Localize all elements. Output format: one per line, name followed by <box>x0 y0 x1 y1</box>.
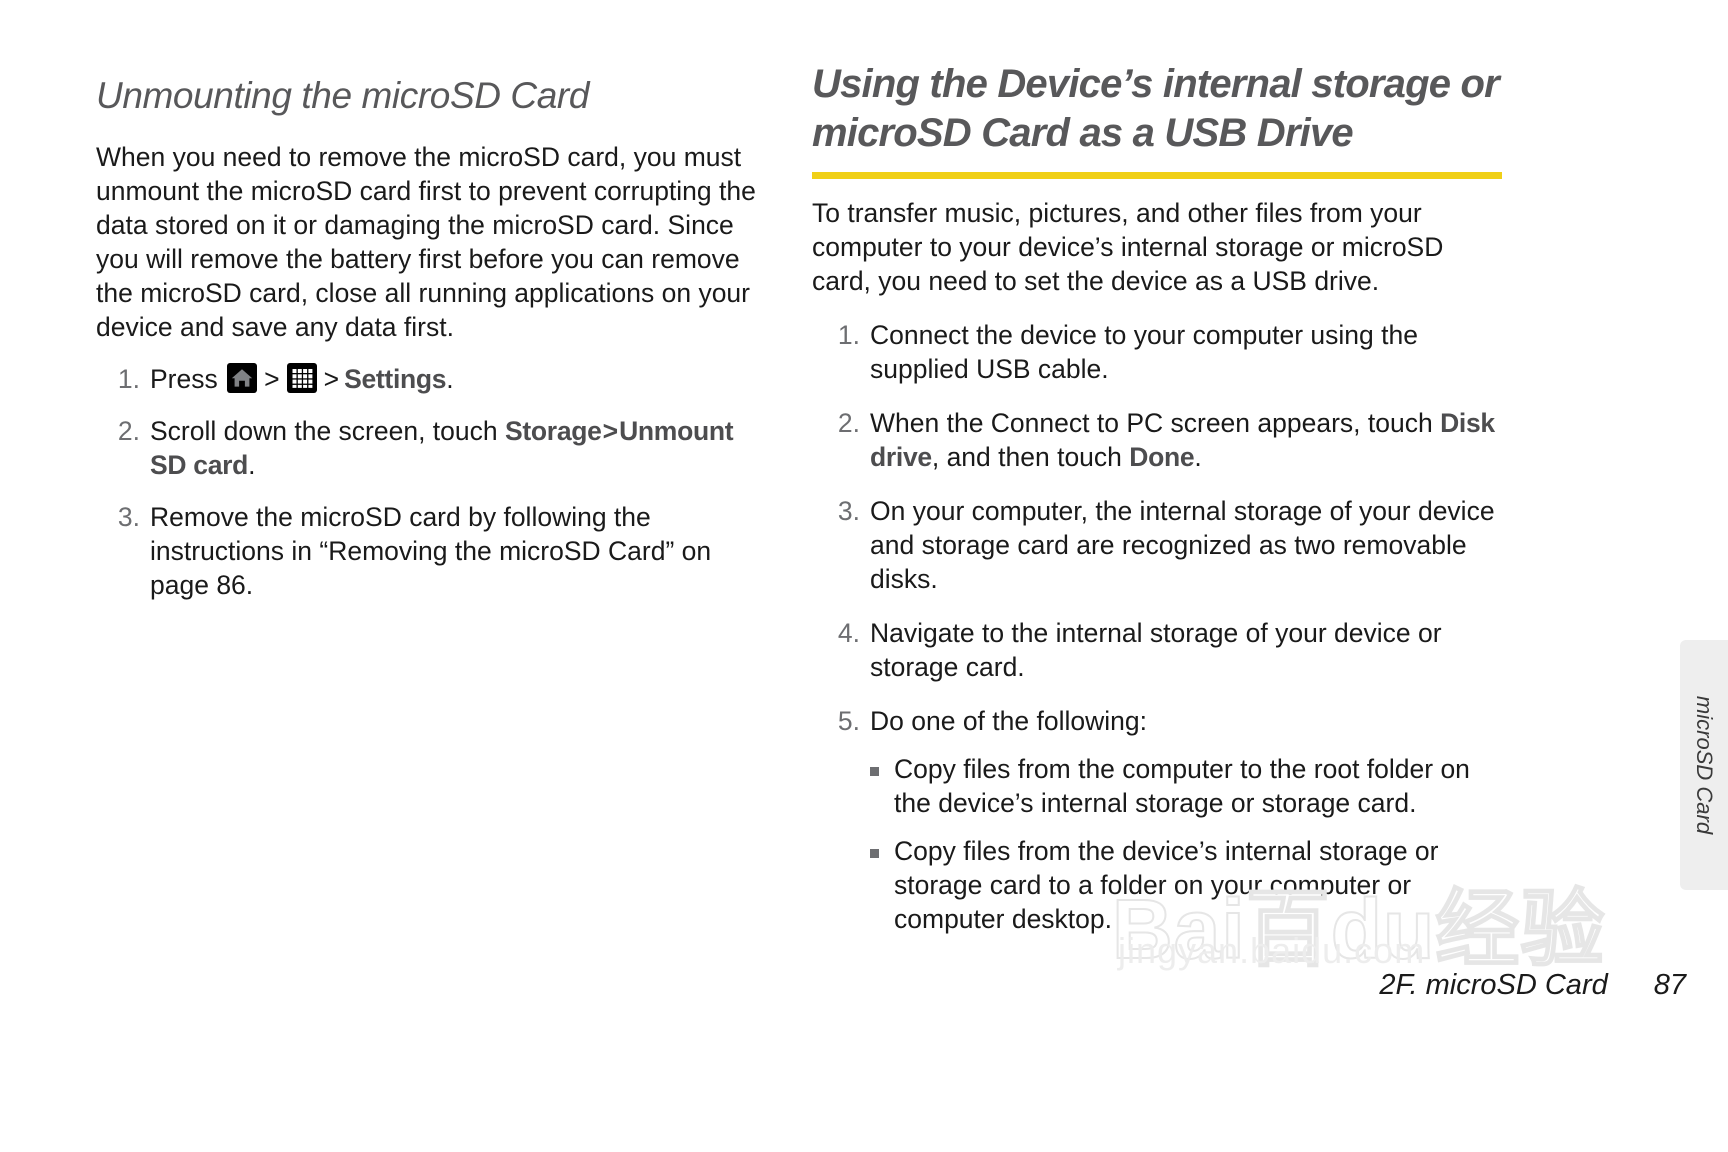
step-text: Remove the microSD card by following the… <box>150 502 711 600</box>
step-text-prefix: Press <box>150 364 218 394</box>
step-text-suffix: . <box>1194 442 1201 472</box>
left-column: Unmounting the microSD Card When you nee… <box>96 60 776 620</box>
list-item: Copy files from the device’s internal st… <box>870 834 1502 936</box>
list-item: 3.Remove the microSD card by following t… <box>96 500 776 602</box>
right-steps-list: 1.Connect the device to your computer us… <box>812 318 1502 936</box>
square-bullet-icon <box>870 767 879 776</box>
chevron-separator: > <box>319 364 344 394</box>
list-item: 1.Press > <box>96 362 776 396</box>
step-text-prefix: Scroll down the screen, touch <box>150 416 498 446</box>
step-number: 2. <box>106 414 140 448</box>
accent-rule <box>812 172 1502 179</box>
list-item: Copy files from the computer to the root… <box>870 752 1502 820</box>
step-text: Navigate to the internal storage of your… <box>870 618 1442 682</box>
list-item: 4.Navigate to the internal storage of yo… <box>812 616 1502 684</box>
side-tab-label: microSD Card <box>1691 696 1717 834</box>
chevron-separator: > <box>259 364 284 394</box>
step-number: 1. <box>106 362 140 396</box>
step-number: 5. <box>826 704 860 738</box>
square-bullet-icon <box>870 849 879 858</box>
list-item: 3.On your computer, the internal storage… <box>812 494 1502 596</box>
right-section-heading: Using the Device’s internal storage or m… <box>812 60 1502 158</box>
step-text: Do one of the following: <box>870 706 1147 736</box>
list-item: 5.Do one of the following: Copy files fr… <box>812 704 1502 936</box>
list-item: 2.Scroll down the screen, touch Storage>… <box>96 414 776 482</box>
list-item: 2.When the Connect to PC screen appears,… <box>812 406 1502 474</box>
step-number: 1. <box>826 318 860 352</box>
sub-bullet-list: Copy files from the computer to the root… <box>870 752 1502 936</box>
page-footer: 2F. microSD Card 87 <box>1379 969 1686 1002</box>
left-section-heading: Unmounting the microSD Card <box>96 60 776 118</box>
step-text-middle: , and then touch <box>932 442 1122 472</box>
step-number: 3. <box>826 494 860 528</box>
apps-grid-icon <box>287 363 317 393</box>
ui-term-done: Done <box>1129 442 1194 472</box>
step-number: 3. <box>106 500 140 534</box>
step-text: On your computer, the internal storage o… <box>870 496 1495 594</box>
ui-term-storage: Storage <box>505 416 602 446</box>
list-item: 1.Connect the device to your computer us… <box>812 318 1502 386</box>
chevron-separator: > <box>602 416 619 446</box>
step-text-prefix: When the Connect to PC screen appears, t… <box>870 408 1433 438</box>
step-text-suffix: . <box>446 364 453 394</box>
home-icon <box>227 363 257 393</box>
left-steps-list: 1.Press > <box>96 362 776 602</box>
bullet-text: Copy files from the computer to the root… <box>894 754 1470 818</box>
page-number: 87 <box>1654 969 1686 1002</box>
ui-term-settings: Settings <box>344 364 446 394</box>
manual-page: Unmounting the microSD Card When you nee… <box>0 0 1728 1152</box>
step-text-suffix: . <box>248 450 255 480</box>
left-intro-paragraph: When you need to remove the microSD card… <box>96 140 776 344</box>
right-column: Using the Device’s internal storage or m… <box>812 60 1502 956</box>
side-tab-microsd-card: microSD Card <box>1680 640 1728 890</box>
bullet-text: Copy files from the device’s internal st… <box>894 836 1439 934</box>
step-number: 2. <box>826 406 860 440</box>
step-text: Connect the device to your computer usin… <box>870 320 1418 384</box>
right-intro-paragraph: To transfer music, pictures, and other f… <box>812 196 1502 298</box>
step-number: 4. <box>826 616 860 650</box>
footer-chapter-label: 2F. microSD Card <box>1379 969 1607 1002</box>
